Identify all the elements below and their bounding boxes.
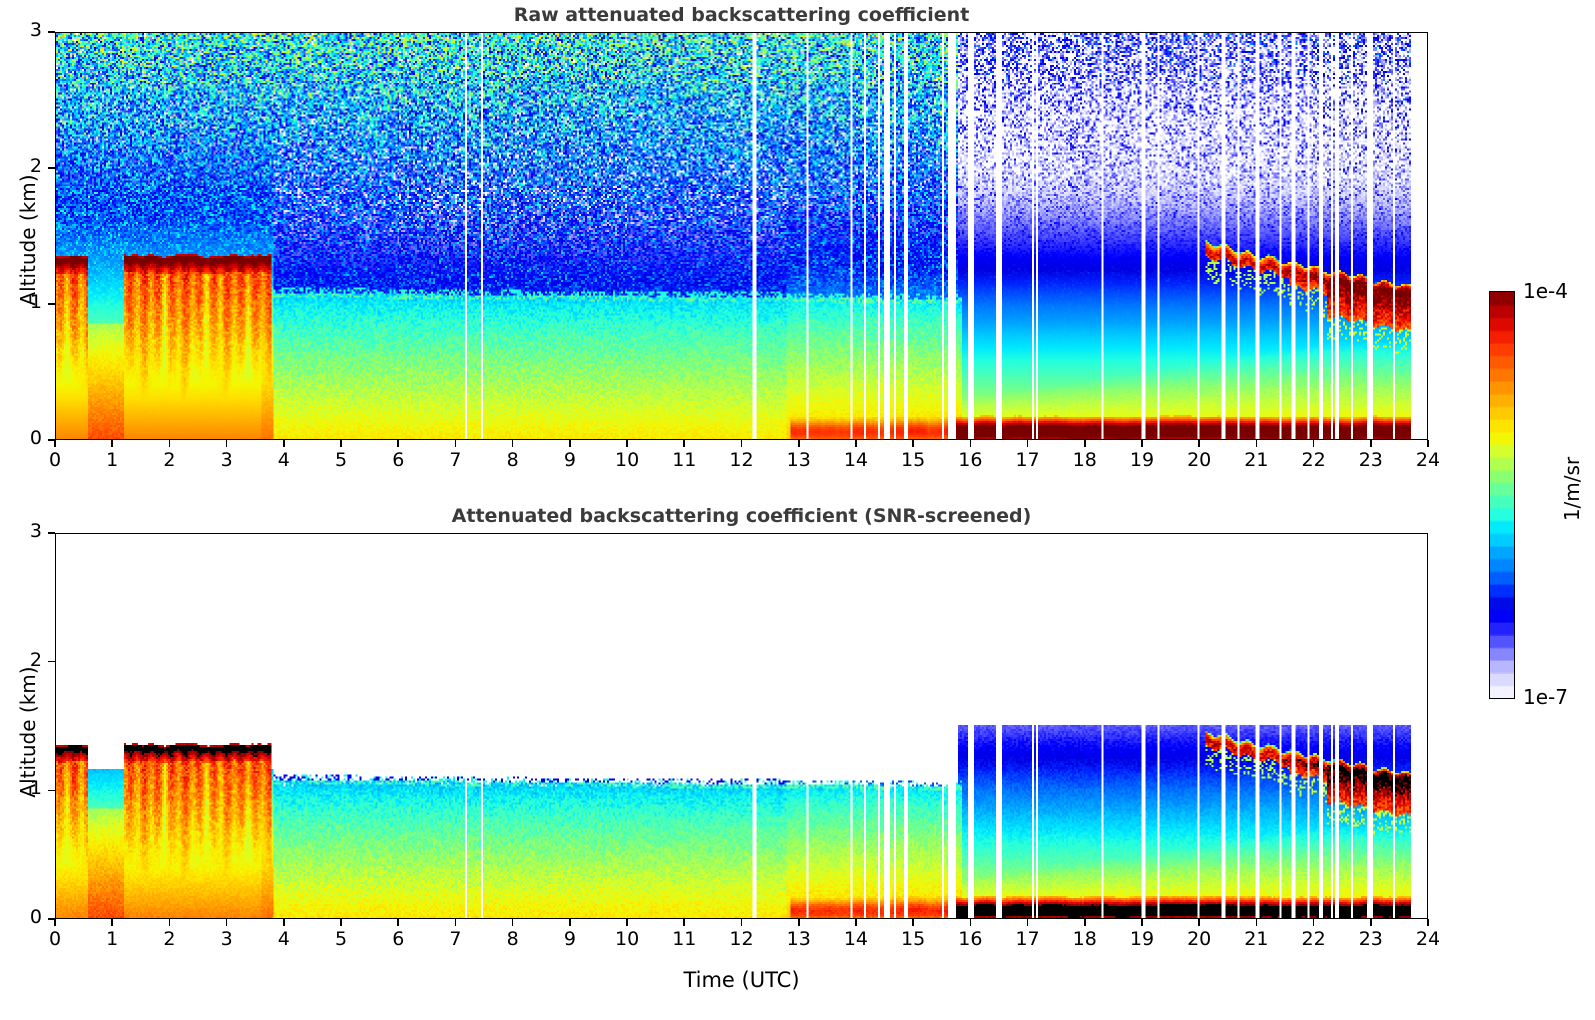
x-tick-label: 20 [1177, 449, 1221, 471]
y-tick-label: 0 [2, 427, 42, 449]
x-tick-top [569, 440, 571, 447]
colorbar-max-label: 1e-4 [1523, 279, 1568, 303]
x-tick-top [1427, 440, 1429, 447]
x-tick-top [741, 440, 743, 447]
x-tick-label: 2 [147, 928, 191, 950]
x-tick-top [970, 440, 972, 447]
x-tick-label: 22 [1292, 928, 1336, 950]
y-tick-label: 1 [2, 291, 42, 313]
y-tick-label: 2 [2, 155, 42, 177]
x-tick-top [111, 440, 113, 447]
x-tick-bot [798, 919, 800, 926]
x-tick-bot [111, 919, 113, 926]
x-tick-bot [397, 919, 399, 926]
x-tick-label: 22 [1292, 449, 1336, 471]
x-tick-label: 20 [1177, 928, 1221, 950]
x-tick-bot [169, 919, 171, 926]
x-tick-label: 8 [491, 928, 535, 950]
y-tick-label: 3 [2, 19, 42, 41]
x-tick-top [283, 440, 285, 447]
x-tick-bot [855, 919, 857, 926]
panel-title-screened: Attenuated backscattering coefficient (S… [55, 505, 1428, 527]
x-tick-bot [569, 919, 571, 926]
x-tick-label: 8 [491, 449, 535, 471]
x-tick-top [1370, 440, 1372, 447]
x-tick-bot [512, 919, 514, 926]
x-tick-label: 0 [33, 449, 77, 471]
x-tick-bot [741, 919, 743, 926]
y-tick-bot [48, 918, 55, 920]
x-tick-top [455, 440, 457, 447]
x-tick-label: 0 [33, 928, 77, 950]
x-tick-label: 23 [1349, 928, 1393, 950]
x-tick-label: 18 [1063, 449, 1107, 471]
x-tick-label: 21 [1234, 449, 1278, 471]
x-tick-top [1256, 440, 1258, 447]
x-tick-label: 11 [662, 928, 706, 950]
x-tick-top [397, 440, 399, 447]
x-tick-label: 1 [90, 928, 134, 950]
x-tick-top [1027, 440, 1029, 447]
x-tick-bot [683, 919, 685, 926]
x-tick-label: 7 [433, 928, 477, 950]
y-tick-label: 1 [2, 777, 42, 799]
y-tick-label: 2 [2, 649, 42, 671]
x-tick-label: 17 [1006, 449, 1050, 471]
heatmap-screened[interactable] [55, 533, 1428, 919]
x-tick-top [1198, 440, 1200, 447]
x-tick-label: 9 [548, 449, 592, 471]
x-tick-label: 12 [720, 928, 764, 950]
heatmap-raw-canvas [56, 33, 1427, 439]
x-axis-label: Time (UTC) [55, 968, 1428, 992]
y-tick-label: 0 [2, 906, 42, 928]
x-tick-label: 5 [319, 449, 363, 471]
x-tick-top [340, 440, 342, 447]
x-tick-label: 3 [205, 449, 249, 471]
x-tick-label: 15 [891, 449, 935, 471]
x-tick-label: 1 [90, 449, 134, 471]
x-tick-label: 18 [1063, 928, 1107, 950]
x-tick-label: 10 [605, 928, 649, 950]
x-tick-bot [1198, 919, 1200, 926]
x-tick-label: 21 [1234, 928, 1278, 950]
x-tick-label: 6 [376, 449, 420, 471]
y-tick-label: 3 [2, 520, 42, 542]
y-tick-bot [48, 661, 55, 663]
x-tick-label: 6 [376, 928, 420, 950]
x-tick-label: 5 [319, 928, 363, 950]
x-tick-label: 4 [262, 449, 306, 471]
y-tick-bot [48, 532, 55, 534]
x-tick-label: 24 [1406, 449, 1450, 471]
y-tick-top [48, 31, 55, 33]
x-tick-bot [1256, 919, 1258, 926]
figure-canvas: Raw attenuated backscattering coefficien… [0, 0, 1595, 1020]
y-tick-top [48, 303, 55, 305]
colorbar-gradient [1489, 291, 1515, 699]
x-tick-label: 19 [1120, 449, 1164, 471]
x-tick-label: 3 [205, 928, 249, 950]
x-tick-top [1141, 440, 1143, 447]
y-tick-top [48, 167, 55, 169]
x-tick-top [855, 440, 857, 447]
x-tick-top [226, 440, 228, 447]
x-tick-label: 10 [605, 449, 649, 471]
x-tick-top [912, 440, 914, 447]
x-tick-bot [1370, 919, 1372, 926]
x-tick-label: 23 [1349, 449, 1393, 471]
x-tick-bot [1141, 919, 1143, 926]
x-tick-label: 11 [662, 449, 706, 471]
x-tick-top [169, 440, 171, 447]
colorbar[interactable]: 1e-4 1e-7 1/m/sr [1489, 291, 1515, 699]
x-tick-label: 15 [891, 928, 935, 950]
x-tick-bot [1427, 919, 1429, 926]
x-tick-bot [226, 919, 228, 926]
x-tick-bot [1027, 919, 1029, 926]
x-tick-top [1084, 440, 1086, 447]
x-tick-label: 2 [147, 449, 191, 471]
x-tick-label: 24 [1406, 928, 1450, 950]
x-tick-bot [54, 919, 56, 926]
x-tick-top [54, 440, 56, 447]
heatmap-screened-canvas [56, 534, 1427, 918]
y-tick-bot [48, 790, 55, 792]
x-tick-bot [340, 919, 342, 926]
colorbar-min-label: 1e-7 [1523, 685, 1568, 709]
x-tick-bot [1313, 919, 1315, 926]
x-tick-bot [283, 919, 285, 926]
colorbar-unit-label: 1/m/sr [1560, 424, 1584, 554]
x-tick-bot [970, 919, 972, 926]
panel-title-raw: Raw attenuated backscattering coefficien… [55, 4, 1428, 26]
x-tick-bot [626, 919, 628, 926]
x-tick-label: 12 [720, 449, 764, 471]
x-tick-bot [1084, 919, 1086, 926]
x-tick-label: 9 [548, 928, 592, 950]
x-tick-bot [912, 919, 914, 926]
x-tick-top [626, 440, 628, 447]
x-tick-label: 13 [777, 928, 821, 950]
x-tick-top [1313, 440, 1315, 447]
x-tick-label: 19 [1120, 928, 1164, 950]
heatmap-raw[interactable] [55, 32, 1428, 440]
x-tick-top [798, 440, 800, 447]
x-tick-label: 16 [948, 928, 992, 950]
x-tick-label: 16 [948, 449, 992, 471]
x-tick-label: 7 [433, 449, 477, 471]
x-tick-label: 13 [777, 449, 821, 471]
x-tick-label: 17 [1006, 928, 1050, 950]
x-tick-top [683, 440, 685, 447]
x-tick-top [512, 440, 514, 447]
x-tick-label: 14 [834, 449, 878, 471]
x-tick-label: 14 [834, 928, 878, 950]
x-tick-label: 4 [262, 928, 306, 950]
y-tick-top [48, 439, 55, 441]
x-tick-bot [455, 919, 457, 926]
